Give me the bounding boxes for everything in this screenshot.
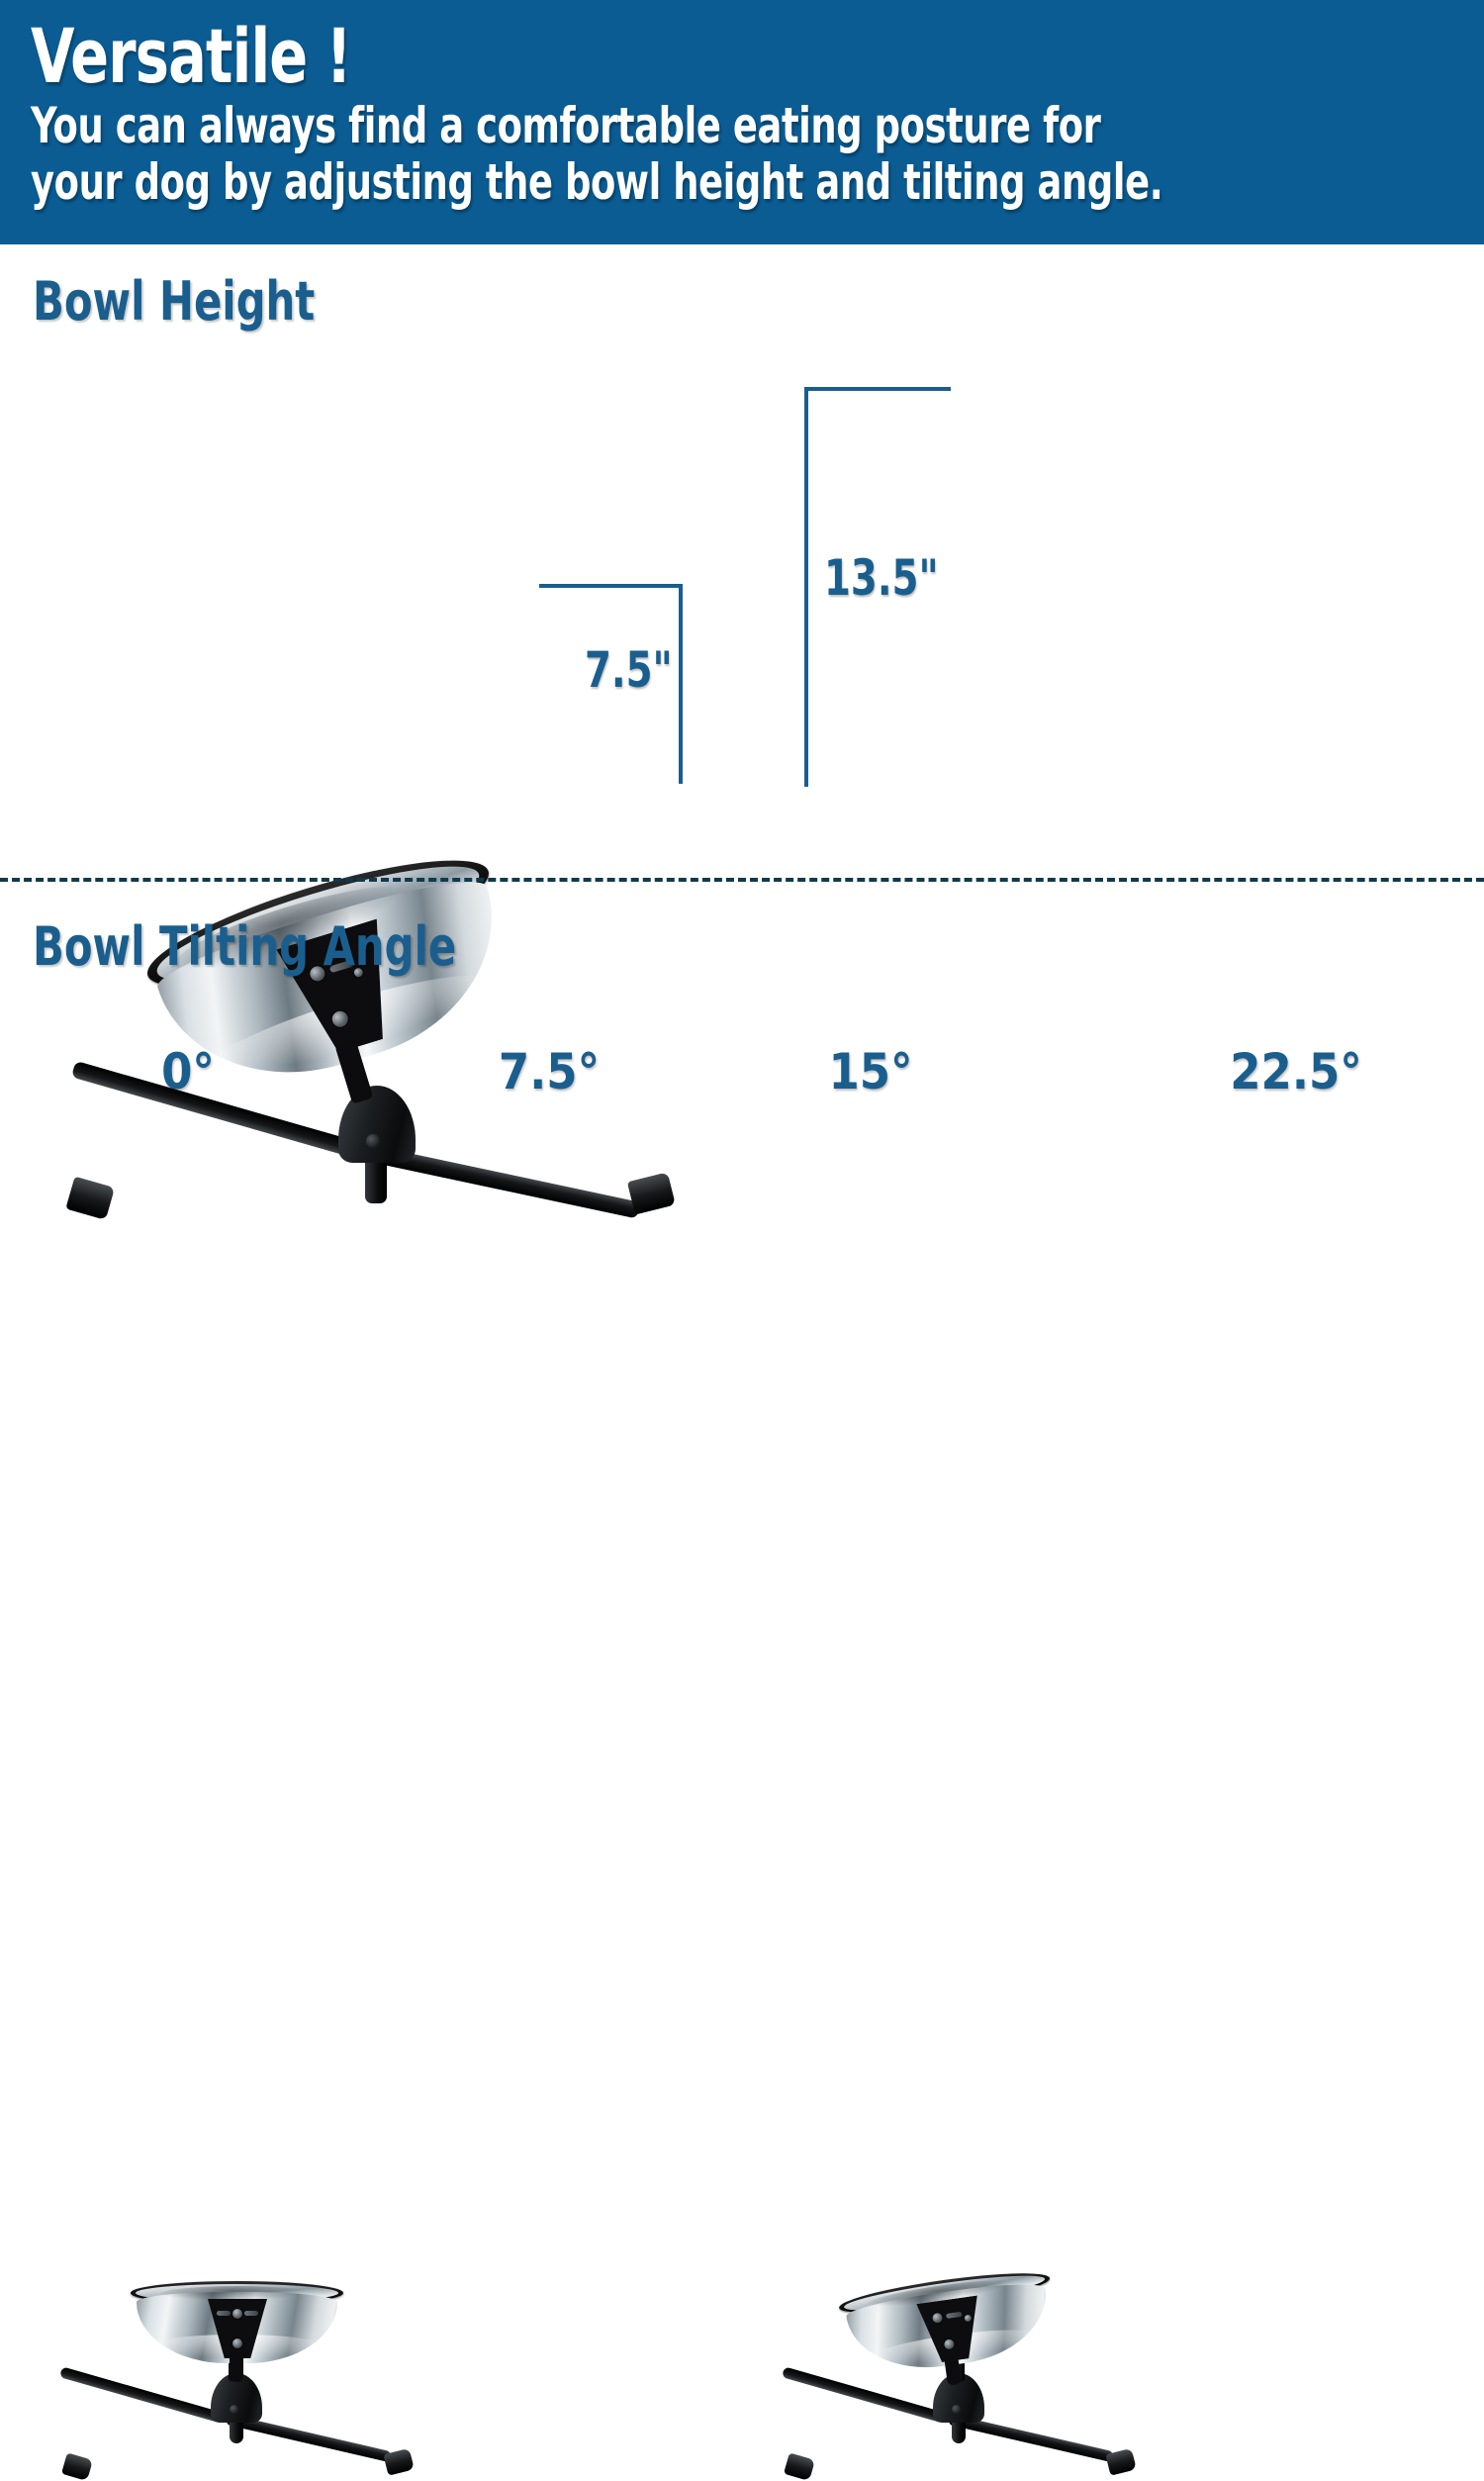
bowl-assembly <box>837 2265 1065 2413</box>
bracket-neck <box>230 2352 243 2382</box>
product-image-tilt-7-5 <box>401 1128 727 1356</box>
product-image-tilt-0 <box>40 1128 366 1356</box>
dimension-label-13-5-inch: 13.5" <box>824 549 939 607</box>
dimension-line-low <box>679 584 683 784</box>
headline-versatile: Versatile ! <box>31 22 1227 92</box>
bracket-screw-center <box>232 2309 242 2319</box>
tripod-foot-left <box>61 2452 93 2481</box>
section-heading-bowl-height: Bowl Height <box>33 270 315 333</box>
angle-label-22-5: 22.5° <box>1177 1043 1415 1100</box>
dimension-cap-top-low <box>539 584 683 588</box>
tripod-foot-right <box>383 2448 415 2476</box>
header-banner: Versatile ! You can always find a comfor… <box>0 0 1484 244</box>
angle-label-15: 15° <box>752 1043 989 1100</box>
bowl-assembly <box>131 2281 343 2400</box>
bowl-assembly <box>138 836 542 1149</box>
bracket-screw-bottom <box>232 2338 242 2348</box>
product-image-bowl-stand-low <box>30 435 673 792</box>
bracket-slot-left <box>217 2311 231 2316</box>
angle-label-7-5: 7.5° <box>430 1043 668 1100</box>
tripod-foot-right <box>1105 2448 1137 2476</box>
dimension-line-high <box>804 387 808 787</box>
dimension-cap-top-high <box>804 387 951 391</box>
section-divider <box>0 878 1484 882</box>
bracket-slot-right <box>244 2311 258 2316</box>
hub-knob <box>230 2405 238 2414</box>
section-heading-bowl-tilting-angle: Bowl Tilting Angle <box>33 915 456 978</box>
hub-knob <box>366 1134 380 1148</box>
headline-subline-2: your dog by adjusting the bowl height an… <box>31 154 1198 211</box>
hub-knob <box>952 2405 961 2414</box>
product-image-tilt-15 <box>757 1128 1083 1356</box>
dimension-label-7-5-inch: 7.5" <box>585 641 673 699</box>
product-image-tilt-22-5 <box>1133 1128 1459 1356</box>
headline-subline-1: You can always find a comfortable eating… <box>31 98 1198 154</box>
angle-label-0: 0° <box>69 1043 307 1100</box>
tripod-foot-left <box>784 2452 815 2481</box>
